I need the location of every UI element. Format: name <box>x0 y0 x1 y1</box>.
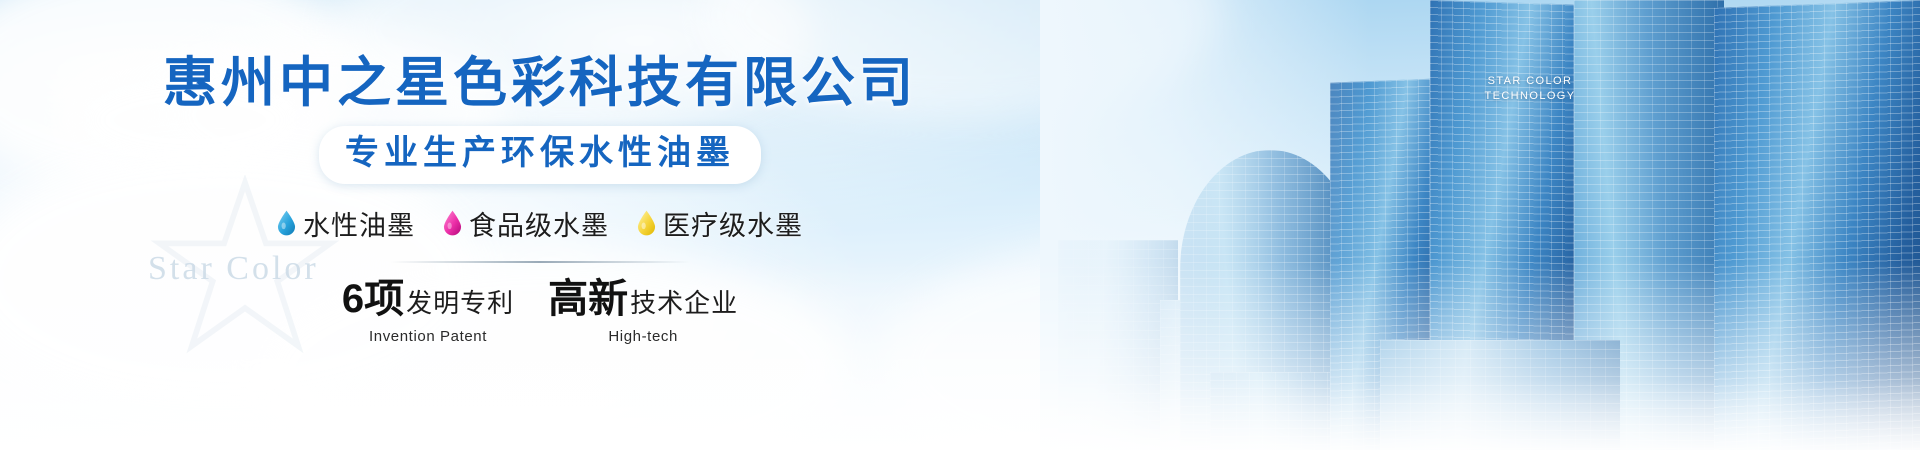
badge-invention-patent: 6项 发明专利 Invention Patent <box>342 279 514 345</box>
skyline-left-fade <box>1040 0 1370 450</box>
badge-main-line: 6项 发明专利 <box>342 279 514 319</box>
company-hero-banner: STAR COLOR TECHNOLOGY Star Color 惠州中之星色彩… <box>0 0 1920 450</box>
brand-sign-line2: TECHNOLOGY <box>1470 89 1590 104</box>
subtitle-pill: 专业生产环保水性油墨 <box>319 126 761 184</box>
skyline-bottom-fade <box>1040 380 1920 450</box>
building-brand-sign: STAR COLOR TECHNOLOGY <box>1470 74 1590 104</box>
badge-suffix: 技术企业 <box>630 290 738 316</box>
low-building <box>1210 372 1380 450</box>
feature-label: 医疗级水墨 <box>663 204 803 243</box>
feature-item-medical-grade-ink: 医疗级水墨 <box>637 204 803 243</box>
badge-english-label: High-tech <box>608 328 678 345</box>
divider-rule <box>390 261 690 263</box>
company-title: 惠州中之星色彩科技有限公司 <box>163 54 917 112</box>
background-tower <box>1160 300 1230 450</box>
feature-item-water-ink: 水性油墨 <box>277 204 415 243</box>
water-drop-icon <box>277 210 296 236</box>
magenta-drop-icon <box>443 210 462 236</box>
tall-tower <box>1430 0 1590 450</box>
badge-main-line: 高新 技术企业 <box>548 279 738 319</box>
brand-sign-line1: STAR COLOR <box>1470 74 1590 89</box>
subtitle-text: 专业生产环保水性油墨 <box>345 132 735 175</box>
badge-suffix: 发明专利 <box>406 290 514 316</box>
badge-high-tech-enterprise: 高新 技术企业 High-tech <box>548 279 738 345</box>
banner-content: 惠州中之星色彩科技有限公司 专业生产环保水性油墨 水性油 <box>0 0 1080 450</box>
credential-badges: 6项 发明专利 Invention Patent 高新 技术企业 High-te… <box>342 279 738 345</box>
city-skyline-photo <box>1040 0 1920 450</box>
tall-tower-secondary <box>1574 0 1724 450</box>
low-building <box>1380 340 1620 450</box>
feature-label: 食品级水墨 <box>469 204 609 243</box>
badge-count: 6项 <box>342 279 404 319</box>
mid-tower <box>1330 78 1450 450</box>
feature-label: 水性油墨 <box>303 204 415 243</box>
feature-list: 水性油墨 食品级水墨 <box>277 204 803 243</box>
badge-count: 高新 <box>548 279 628 319</box>
feature-item-food-grade-ink: 食品级水墨 <box>443 204 609 243</box>
yellow-drop-icon <box>637 210 656 236</box>
curved-tower <box>1180 150 1360 450</box>
edge-tower <box>1714 0 1920 450</box>
badge-english-label: Invention Patent <box>369 328 487 345</box>
